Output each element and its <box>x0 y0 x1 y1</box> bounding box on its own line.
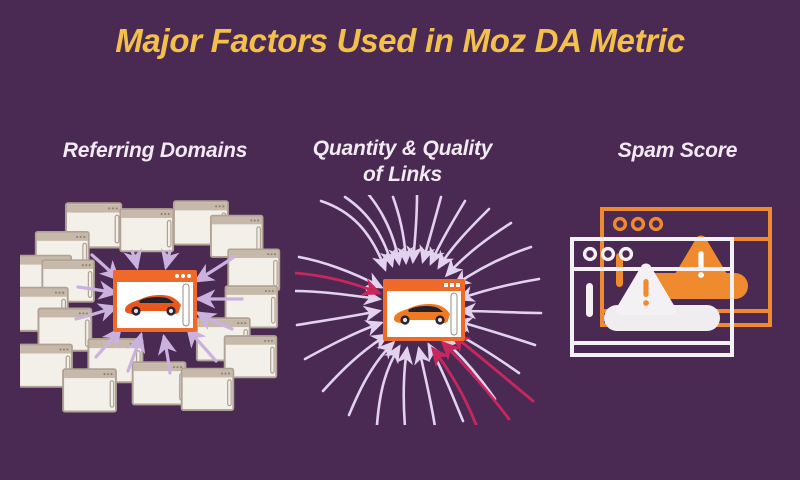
center-site-window-referring <box>113 270 197 332</box>
column-heading-spam-score: Spam Score <box>555 138 800 164</box>
infographic-canvas: Major Factors Used in Moz DA Metric Refe… <box>0 0 800 480</box>
heading-line-1: Quantity & Quality <box>313 137 493 160</box>
column-heading-referring-domains: Referring Domains <box>10 138 300 164</box>
front-window-titlebar-dots <box>585 249 632 260</box>
column-heading-quantity-quality-of-links: Quantity & Quality of Links <box>275 136 530 188</box>
heading-line-2: of Links <box>363 163 442 186</box>
center-window-titlebar <box>444 283 460 287</box>
center-window-titlebar <box>175 274 191 278</box>
back-window-titlebar-dots <box>615 219 662 230</box>
page-title: Major Factors Used in Moz DA Metric <box>0 22 800 60</box>
illustration-referring-domains <box>20 195 290 425</box>
illustration-quantity-quality-of-links <box>295 195 545 425</box>
center-site-window-links <box>383 279 465 341</box>
warning-triangle-icon-orange <box>671 236 731 288</box>
illustration-spam-score <box>560 195 795 425</box>
